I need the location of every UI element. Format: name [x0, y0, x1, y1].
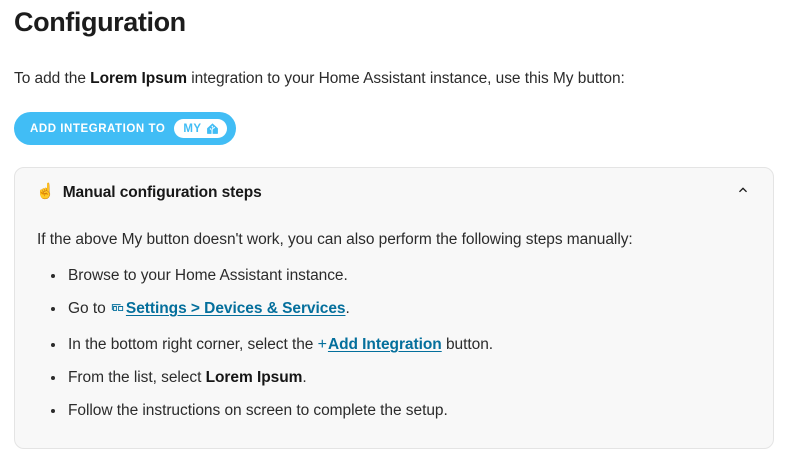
- intro-integration-name: Lorem Ipsum: [90, 70, 187, 87]
- configuration-page: Configuration To add the Lorem Ipsum int…: [0, 0, 788, 459]
- list-item: Follow the instructions on screen to com…: [68, 400, 751, 422]
- add-integration-to-my-button[interactable]: ADD INTEGRATION TO MY: [14, 112, 236, 145]
- list-item: In the bottom right corner, select the +…: [68, 334, 751, 356]
- accordion-header-left: ☝ Manual configuration steps: [36, 184, 262, 202]
- step-text-after: button.: [442, 336, 493, 353]
- intro-text-after: integration to your Home Assistant insta…: [187, 70, 625, 87]
- accordion-body: If the above My button doesn't work, you…: [15, 209, 773, 422]
- chevron-up-icon[interactable]: [735, 182, 751, 203]
- accordion-lead-text: If the above My button doesn't work, you…: [37, 229, 751, 251]
- home-assistant-logo-icon: [206, 122, 219, 135]
- add-integration-link[interactable]: Add Integration: [328, 336, 442, 353]
- manual-configuration-card: ☝ Manual configuration steps If the abov…: [14, 167, 774, 449]
- list-item: Go to Settings > Devices & Services.: [68, 298, 751, 323]
- manual-steps-list: Browse to your Home Assistant instance. …: [37, 265, 751, 422]
- settings-devices-services-link[interactable]: Settings > Devices & Services: [126, 300, 346, 317]
- step-text-before: Go to: [68, 300, 110, 317]
- my-badge-label: MY: [183, 123, 201, 135]
- manual-configuration-accordion-header[interactable]: ☝ Manual configuration steps: [15, 168, 773, 209]
- step-text-after: .: [302, 369, 306, 386]
- intro-paragraph: To add the Lorem Ipsum integration to yo…: [14, 38, 774, 90]
- step-text-before: In the bottom right corner, select the: [68, 336, 318, 353]
- pointing-hand-icon: ☝: [36, 184, 55, 199]
- step-text: Browse to your Home Assistant instance.: [68, 267, 348, 284]
- add-integration-button-label: ADD INTEGRATION TO: [30, 123, 165, 135]
- intro-text-before: To add the: [14, 70, 90, 87]
- plus-icon: +: [318, 336, 327, 353]
- list-item: From the list, select Lorem Ipsum.: [68, 367, 751, 389]
- list-item: Browse to your Home Assistant instance.: [68, 265, 751, 287]
- accordion-title: Manual configuration steps: [63, 184, 262, 202]
- step-text-after: .: [345, 300, 349, 317]
- devices-icon: [110, 301, 125, 323]
- step-text: Follow the instructions on screen to com…: [68, 402, 448, 419]
- my-badge: MY: [174, 119, 226, 138]
- page-title: Configuration: [14, 0, 774, 38]
- step-text-before: From the list, select: [68, 369, 206, 386]
- step-integration-name: Lorem Ipsum: [206, 369, 303, 386]
